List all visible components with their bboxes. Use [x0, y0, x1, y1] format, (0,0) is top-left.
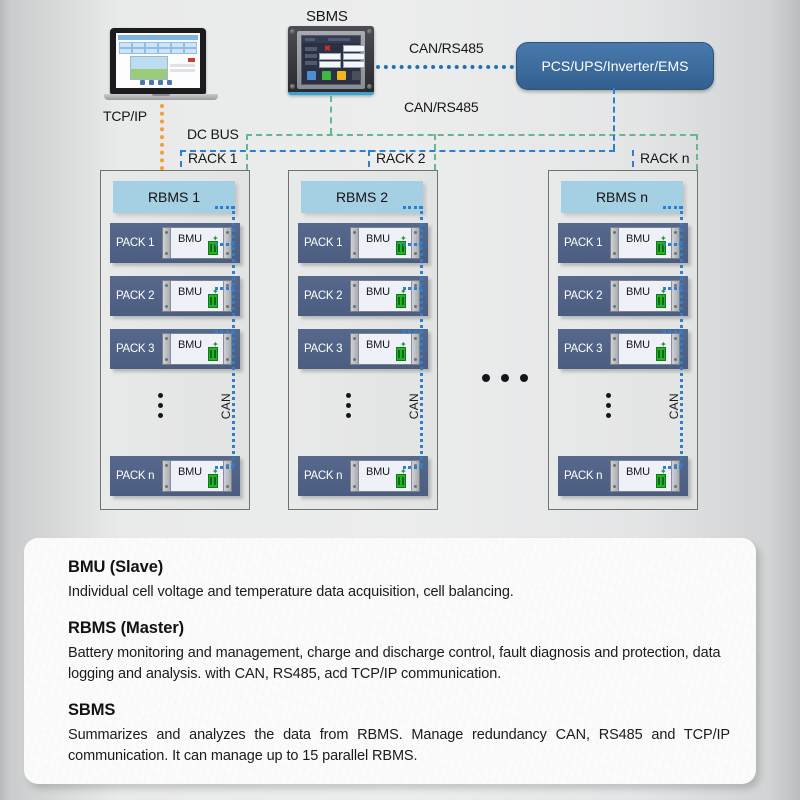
laptop-screen [116, 33, 200, 88]
rack2-can-tap-3 [403, 330, 422, 333]
rackn-bmu-2: BMU ✦ [610, 280, 680, 312]
rackn-can-label: CAN [667, 393, 681, 419]
rackn-pack-n: PACK n BMU ✦ [558, 456, 688, 496]
bmu-connector-icon [208, 347, 218, 361]
sbms-hmi-device: ✖ [288, 26, 374, 94]
rbms-1-label: RBMS 1 [148, 189, 200, 205]
pcs-label: PCS/UPS/Inverter/EMS [541, 58, 688, 74]
rack1-pack-3: PACK 3 BMU ✦ [110, 329, 240, 369]
rack2-pack-2: PACK 2 BMU ✦ [298, 276, 428, 316]
rack1-can-tap-n [215, 466, 234, 469]
rack1-pack-1-label: PACK 1 [116, 237, 162, 249]
racks-horizontal-ellipsis [482, 374, 528, 382]
legend-body-bmu: Individual cell voltage and temperature … [68, 582, 730, 603]
rackn-bmu-n-label: BMU [626, 466, 650, 478]
rack2-can-label: CAN [407, 393, 421, 419]
link-pcs-down [613, 88, 615, 150]
bmu-connector-icon [396, 294, 406, 308]
link-label-can-rs485-mid: CAN/RS485 [404, 99, 478, 115]
rackn-pack-2: PACK 2 BMU ✦ [558, 276, 688, 316]
rack2-bmu-2: BMU ✦ [350, 280, 420, 312]
rack2-pack-1-label: PACK 1 [304, 237, 350, 249]
rack2-pack-3: PACK 3 BMU ✦ [298, 329, 428, 369]
rack2-can-tap-2 [403, 287, 422, 290]
rack1-bmu-1-label: BMU [178, 233, 202, 245]
link-label-tcp-ip: TCP/IP [103, 108, 147, 124]
rack2-bmu-1-label: BMU [366, 233, 390, 245]
rbms-n-label: RBMS n [596, 189, 648, 205]
hmi-icon-warning[interactable] [337, 71, 346, 80]
rackn-pack-2-label: PACK 2 [564, 290, 610, 302]
rackn-bmu-3-label: BMU [626, 339, 650, 351]
rackn-can-tap-2 [663, 287, 682, 290]
pcs-ups-inverter-ems-node: PCS/UPS/Inverter/EMS [516, 42, 714, 90]
bmu-connector-icon [656, 347, 666, 361]
rack-label-n: RACK n [640, 150, 689, 166]
rackn-bmu-3: BMU ✦ [610, 333, 680, 365]
rack1-bmu-2-label: BMU [178, 286, 202, 298]
bmu-connector-icon [208, 294, 218, 308]
rack1-pack-2-label: PACK 2 [116, 290, 162, 302]
link-label-dc-bus: DC BUS [187, 126, 239, 142]
rack2-pack-3-label: PACK 3 [304, 343, 350, 355]
link-sbms-to-pcs [376, 65, 514, 69]
rack1-can-tap-rbms [215, 206, 234, 209]
rackn-pack-1-label: PACK 1 [564, 237, 610, 249]
rack1-pack-n: PACK n BMU ✦ [110, 456, 240, 496]
rack2-pack-n-label: PACK n [304, 470, 350, 482]
rack-label-2: RACK 2 [376, 150, 425, 166]
link-sbms-down [330, 96, 332, 134]
bmu-connector-icon [396, 474, 406, 488]
rackn-can-tap-3 [663, 330, 682, 333]
rack-label-1: RACK 1 [188, 150, 237, 166]
rack2-bmu-2-label: BMU [366, 286, 390, 298]
rack-1: RBMS 1 PACK 1 BMU ✦ PACK 2 BMU ✦ [100, 170, 250, 510]
hmi-bottom-strip [288, 92, 374, 95]
rack2-pack-n: PACK n BMU ✦ [298, 456, 428, 496]
rack1-pack-n-label: PACK n [116, 470, 162, 482]
sbms-title: SBMS [306, 8, 348, 25]
rack1-pack-3-label: PACK 3 [116, 343, 162, 355]
rackn-pack-3-label: PACK 3 [564, 343, 610, 355]
hmi-icon-monitor[interactable] [307, 71, 316, 80]
diagram-canvas: SBMS ✖ [0, 0, 800, 800]
legend-heading-sbms: SBMS [68, 701, 730, 720]
rack1-can-tap-3 [215, 330, 234, 333]
rack-n: RBMS n PACK 1 BMU ✦ PACK 2 BMU ✦ [548, 170, 698, 510]
bmu-connector-icon [208, 474, 218, 488]
rack1-pack-2: PACK 2 BMU ✦ [110, 276, 240, 316]
rack1-bmu-3: BMU ✦ [162, 333, 232, 365]
legend-heading-bmu: BMU (Slave) [68, 558, 730, 577]
legend-body-sbms: Summarizes and analyzes the data from RB… [68, 725, 730, 767]
rack1-bmu-3-label: BMU [178, 339, 202, 351]
bmu-connector-icon [656, 474, 666, 488]
rack2-pack-2-label: PACK 2 [304, 290, 350, 302]
rack2-vertical-ellipsis [346, 393, 351, 418]
rbms-2-label: RBMS 2 [336, 189, 388, 205]
legend-body-rbms: Battery monitoring and management, charg… [68, 643, 730, 685]
bmu-connector-icon [656, 294, 666, 308]
rack2-bmu-n-label: BMU [366, 466, 390, 478]
laptop-device [104, 28, 218, 106]
rack1-vertical-ellipsis [158, 393, 163, 418]
rack2-can-tap-1 [403, 243, 422, 246]
bmu-connector-icon [396, 347, 406, 361]
link-tcp-ip [160, 104, 164, 178]
rackn-vertical-ellipsis [606, 393, 611, 418]
laptop-notch [152, 94, 170, 96]
link-can-rs485-horizontal-bus [246, 134, 696, 136]
hmi-icon-battery[interactable] [322, 71, 331, 80]
rack2-bmu-3: BMU ✦ [350, 333, 420, 365]
rack2-can-tap-rbms [403, 206, 422, 209]
laptop-lid [110, 28, 206, 94]
rackn-can-tap-rbms [663, 206, 682, 209]
rack1-can-label: CAN [219, 393, 233, 419]
link-label-can-rs485-top: CAN/RS485 [409, 40, 483, 56]
rack1-can-tap-1 [215, 243, 234, 246]
hmi-icon-tools[interactable] [352, 71, 361, 80]
rackn-pack-n-label: PACK n [564, 470, 610, 482]
rack2-can-tap-n [403, 466, 422, 469]
rackn-bmu-n: BMU ✦ [610, 460, 680, 492]
rack1-can-tap-2 [215, 287, 234, 290]
rackn-bmu-2-label: BMU [626, 286, 650, 298]
rackn-pack-3: PACK 3 BMU ✦ [558, 329, 688, 369]
rack1-bmu-n-label: BMU [178, 466, 202, 478]
hmi-bezel: ✖ [297, 31, 365, 89]
rackn-bmu-1-label: BMU [626, 233, 650, 245]
rackn-can-tap-1 [663, 243, 682, 246]
rack2-bmu-3-label: BMU [366, 339, 390, 351]
legend-heading-rbms: RBMS (Master) [68, 619, 730, 638]
rack1-bmu-n: BMU ✦ [162, 460, 232, 492]
legend-card: BMU (Slave) Individual cell voltage and … [24, 538, 756, 784]
rack1-bmu-2: BMU ✦ [162, 280, 232, 312]
hmi-screen: ✖ [301, 35, 361, 85]
rackn-can-tap-n [663, 466, 682, 469]
rack-2: RBMS 2 PACK 1 BMU ✦ PACK 2 BMU ✦ [288, 170, 438, 510]
rack2-bmu-n: BMU ✦ [350, 460, 420, 492]
